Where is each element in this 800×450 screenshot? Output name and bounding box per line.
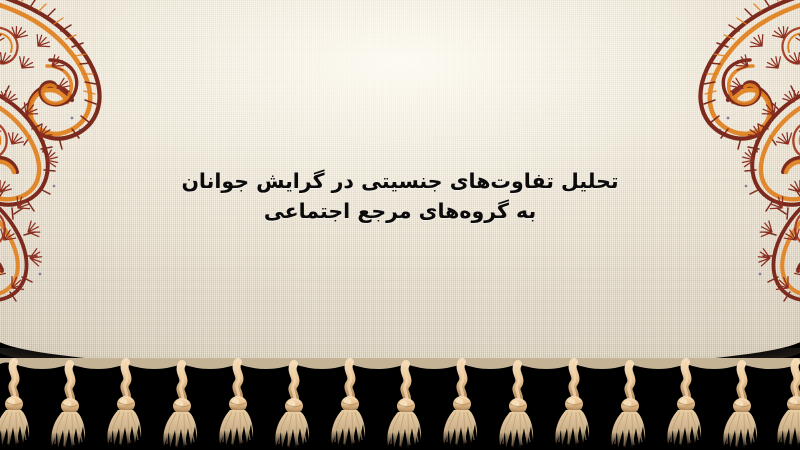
title-line-2: به گروه‌های مرجع اجتماعی <box>0 196 800 226</box>
title-card: تحلیل تفاوت‌های جنسیتی در گرایش جوانان ب… <box>0 0 800 450</box>
tassel-fringe <box>0 358 800 450</box>
slide-title: تحلیل تفاوت‌های جنسیتی در گرایش جوانان ب… <box>0 166 800 226</box>
title-line-1: تحلیل تفاوت‌های جنسیتی در گرایش جوانان <box>181 169 618 193</box>
